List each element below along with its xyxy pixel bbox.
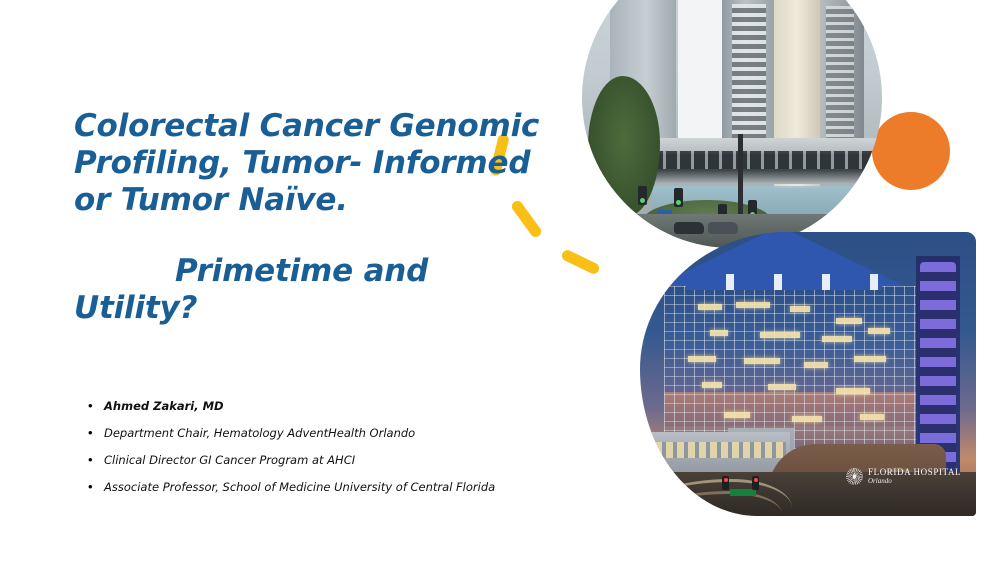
lit-window [792, 416, 822, 422]
lit-window [760, 332, 800, 338]
roof-window-band [686, 274, 882, 290]
wing-windows [644, 442, 786, 458]
lit-window [836, 388, 870, 394]
lit-window [710, 330, 728, 336]
list-item: • Associate Professor, School of Medicin… [88, 479, 558, 495]
list-item: • Department Chair, Hematology AdventHea… [88, 425, 558, 441]
yellow-dash-decoration [560, 248, 601, 275]
list-item-label: Associate Professor, School of Medicine … [104, 480, 495, 495]
bullet-marker-icon: • [88, 479, 104, 494]
lit-window [736, 302, 770, 308]
bullet-marker-icon: • [88, 425, 104, 440]
lit-window [868, 328, 890, 334]
logo-secondary-text: Orlando [868, 478, 961, 485]
lit-window [836, 318, 862, 324]
lit-window [702, 382, 722, 388]
street-name-sign [730, 489, 756, 496]
orange-circle-decoration [872, 112, 950, 190]
purple-tower-lights [920, 262, 956, 468]
lit-window [854, 356, 886, 362]
bullet-marker-icon: • [88, 452, 104, 467]
slide-title: Colorectal Cancer Genomic Profiling, Tum… [74, 108, 554, 327]
title-line-4: Primetime and [74, 253, 554, 290]
list-item-label: Ahmed Zakari, MD [104, 399, 224, 414]
title-line-1: Colorectal Cancer Genomic [74, 108, 554, 145]
presentation-slide: FLORIDA HOSPITAL Orlando Colorectal Canc… [0, 0, 999, 562]
lit-window [790, 306, 810, 312]
bullet-marker-icon: • [88, 398, 104, 413]
lit-window [822, 336, 852, 342]
tree [588, 76, 660, 216]
lit-window [698, 304, 722, 310]
traffic-light-icon [752, 476, 759, 490]
lit-window [724, 412, 750, 418]
traffic-light-icon [722, 476, 729, 490]
title-line-2: Profiling, Tumor- Informed [74, 145, 554, 182]
lit-window [804, 362, 828, 368]
title-line-5: Utility? [74, 290, 554, 327]
lit-window [768, 384, 796, 390]
list-item: • Ahmed Zakari, MD [88, 398, 558, 414]
logo-text-group: FLORIDA HOSPITAL Orlando [868, 468, 961, 485]
list-item-label: Clinical Director GI Cancer Program at A… [104, 453, 355, 468]
lit-window [744, 358, 780, 364]
florida-hospital-orlando-photo: FLORIDA HOSPITAL Orlando [640, 232, 976, 516]
sky-gap [678, 0, 722, 150]
lit-window [688, 356, 716, 362]
urban-skywalk-photo [582, 0, 882, 248]
florida-hospital-logo: FLORIDA HOSPITAL Orlando [846, 468, 961, 485]
traffic-light-icon [674, 188, 683, 207]
presenter-credentials-list: • Ahmed Zakari, MD • Department Chair, H… [88, 398, 558, 506]
list-item: • Clinical Director GI Cancer Program at… [88, 452, 558, 468]
lit-window [860, 414, 884, 420]
traffic-light-icon [638, 186, 647, 205]
hospital-emblem-icon [846, 468, 863, 485]
list-item-label: Department Chair, Hematology AdventHealt… [104, 426, 415, 441]
title-line-3: or Tumor Naïve. [74, 182, 554, 219]
